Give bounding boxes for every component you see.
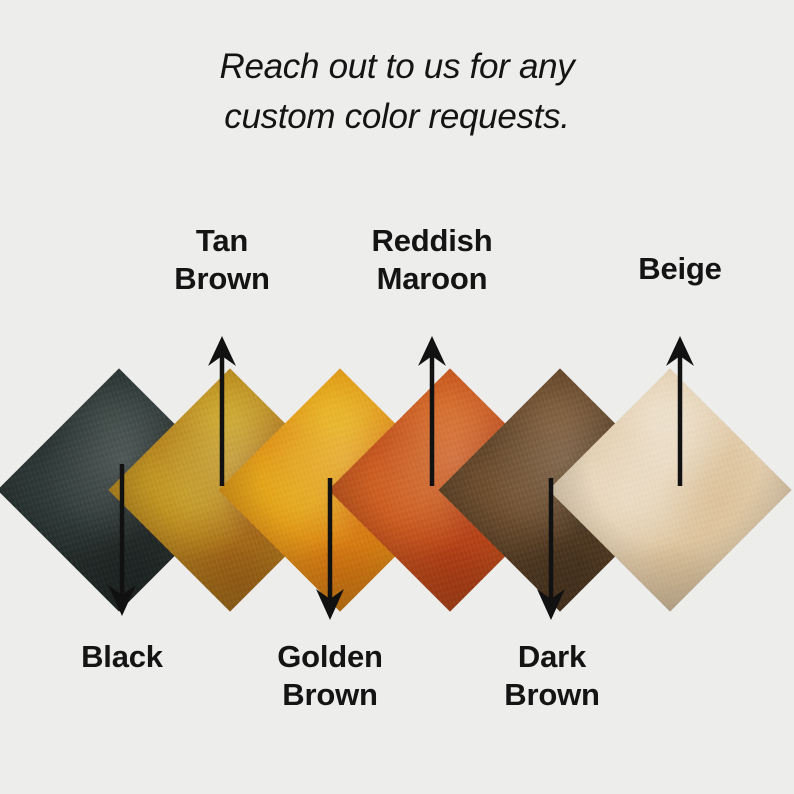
arrow-down-dark-brown (535, 478, 567, 622)
arrow-down-black (106, 464, 138, 618)
swatch-label-tan-brown: Tan Brown (132, 222, 312, 298)
swatch-label-beige: Beige (590, 250, 770, 288)
swatch-label-dark-brown: Dark Brown (462, 638, 642, 714)
swatch-label-reddish-maroon: Reddish Maroon (342, 222, 522, 298)
swatch-label-golden-brown: Golden Brown (240, 638, 420, 714)
arrow-up-tan-brown (206, 336, 238, 486)
arrow-down-golden-brown (314, 478, 346, 622)
arrow-up-beige (664, 336, 696, 486)
color-swatch-chart: Reach out to us for any custom color req… (0, 0, 794, 794)
arrow-up-reddish-maroon (416, 336, 448, 486)
swatch-label-black: Black (32, 638, 212, 676)
